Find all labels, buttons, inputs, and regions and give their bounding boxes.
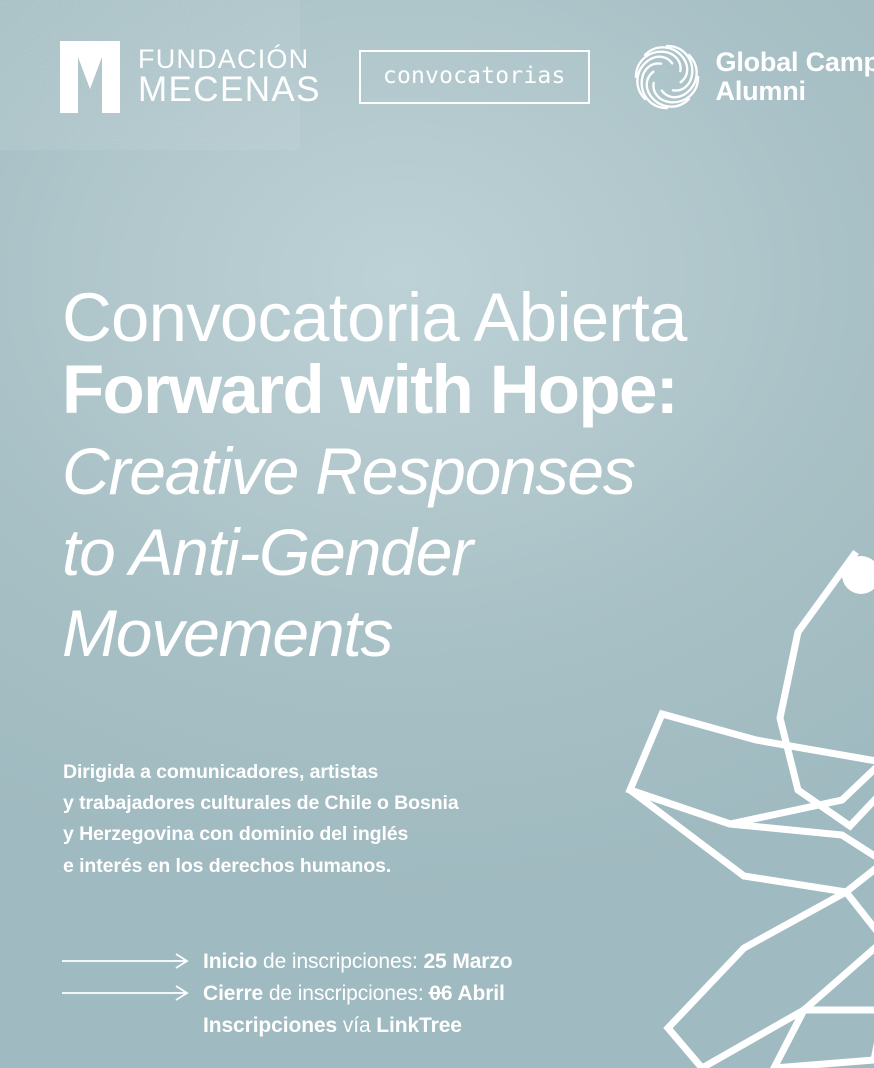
gca-line-2: Alumni	[716, 77, 874, 106]
date-middle-inicio: de inscripciones:	[257, 950, 423, 973]
header-logos: FUNDACIÓN MECENAS convocatorias	[0, 38, 874, 116]
date-row-inscripciones: Inscripciones vía LinkTree	[62, 1009, 513, 1041]
convocatorias-badge[interactable]: convocatorias	[359, 50, 590, 104]
poster-canvas: FUNDACIÓN MECENAS convocatorias	[0, 0, 874, 1068]
audience-line-2: y trabajadores culturales de Chile o Bos…	[63, 788, 459, 819]
audience-line-4: e interés en los derechos humanos.	[63, 851, 459, 882]
inscripciones-middle: vía	[337, 1014, 376, 1037]
global-campus-wordmark: Global Campus Alumni	[716, 48, 874, 105]
date-label-cierre: Cierre	[203, 982, 263, 1005]
date-label-inicio: Inicio	[203, 950, 257, 973]
long-arrow-right-icon	[62, 985, 192, 1001]
headline-line-4: to Anti-Gender	[62, 513, 687, 592]
headline-line-2: Forward with Hope:	[62, 350, 687, 430]
date-row-cierre: Cierre de inscripciones: 06 Abril	[62, 977, 513, 1009]
global-campus-alumni-logo: Global Campus Alumni	[630, 40, 874, 114]
white-circle-decoration	[842, 556, 874, 594]
headline-block: Convocatoria Abierta Forward with Hope: …	[62, 282, 687, 673]
headline-line-5: Movements	[62, 594, 687, 673]
gca-line-1: Global Campus	[716, 48, 874, 77]
date-value-inicio: 25 Marzo	[423, 950, 512, 973]
audience-line-3: y Herzegovina con dominio del inglés	[63, 819, 459, 850]
date-text-inscripciones: Inscripciones vía LinkTree	[203, 1015, 462, 1036]
date-text-cierre: Cierre de inscripciones: 06 Abril	[203, 983, 505, 1004]
dates-block: Inicio de inscripciones: 25 Marzo Cierre…	[62, 945, 513, 1041]
date-text-inicio: Inicio de inscripciones: 25 Marzo	[203, 951, 513, 972]
mecenas-m-mark-icon	[60, 41, 120, 113]
global-campus-spiral-icon	[630, 40, 704, 114]
mecenas-line-2: MECENAS	[138, 73, 321, 107]
headline-line-3: Creative Responses	[62, 432, 687, 511]
mecenas-wordmark: FUNDACIÓN MECENAS	[138, 47, 321, 107]
headline-line-1: Convocatoria Abierta	[62, 282, 687, 354]
audience-line-1: Dirigida a comunicadores, artistas	[63, 757, 459, 788]
date-middle-cierre: de inscripciones:	[263, 982, 429, 1005]
slashed-zero-glyph: 0	[429, 983, 441, 1004]
date-row-inicio: Inicio de inscripciones: 25 Marzo	[62, 945, 513, 977]
audience-description: Dirigida a comunicadores, artistas y tra…	[63, 757, 459, 882]
inscripciones-label: Inscripciones	[203, 1014, 337, 1037]
fundacion-mecenas-logo: FUNDACIÓN MECENAS	[60, 41, 321, 113]
long-arrow-right-icon	[62, 953, 192, 969]
inscripciones-value[interactable]: LinkTree	[376, 1014, 462, 1037]
date-value-cierre: 6 Abril	[441, 982, 505, 1005]
